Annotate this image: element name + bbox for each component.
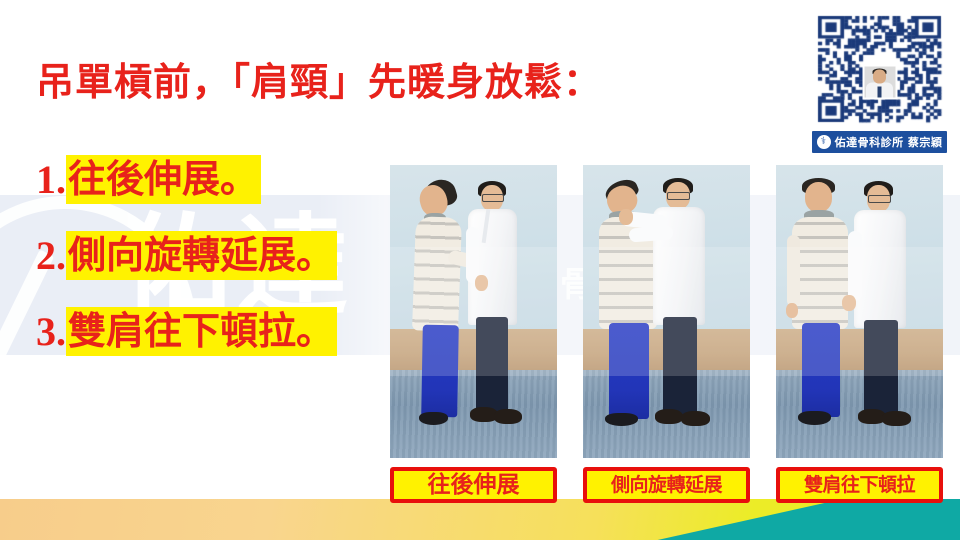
step-number: 2. <box>36 236 66 280</box>
clinic-logo-icon: ⚕ <box>817 135 831 149</box>
step-label: 側向旋轉延展。 <box>66 231 337 280</box>
steps-list: 1. 往後伸展。 2. 側向旋轉延展。 3. 雙肩往下頓拉。 <box>36 148 337 376</box>
list-item: 3. 雙肩往下頓拉。 <box>36 300 337 356</box>
photo-gallery <box>390 165 943 458</box>
qr-center-avatar <box>862 64 897 99</box>
qr-block[interactable]: ⚕ 佑達骨科診所 蔡宗穎 <box>812 10 947 153</box>
photo-caption-1: 往後伸展 <box>390 467 557 503</box>
demo-photo-2 <box>583 165 750 458</box>
demo-photo-3 <box>776 165 943 458</box>
clinic-wainscot <box>390 329 557 370</box>
step-number: 1. <box>36 160 66 204</box>
clinic-label-text: 佑達骨科診所 蔡宗穎 <box>835 134 943 150</box>
slide-canvas: 佑達 骨科診所 吊單槓前，「肩頸」先暖身放鬆： 1. 往後伸展。 2. 側向旋轉… <box>0 0 960 540</box>
step-label: 雙肩往下頓拉。 <box>66 307 337 356</box>
list-item: 1. 往後伸展。 <box>36 148 337 204</box>
step-label: 往後伸展。 <box>66 155 261 204</box>
bottom-decor-bar <box>0 499 960 540</box>
photo-caption-3: 雙肩往下頓拉 <box>776 467 943 503</box>
photo-caption-2: 側向旋轉延展 <box>583 467 750 503</box>
clinic-label: ⚕ 佑達骨科診所 蔡宗穎 <box>812 131 947 153</box>
step-number: 3. <box>36 312 66 356</box>
page-title: 吊單槓前，「肩頸」先暖身放鬆： <box>36 60 602 106</box>
caption-row: 往後伸展 側向旋轉延展 雙肩往下頓拉 <box>390 467 943 503</box>
list-item: 2. 側向旋轉延展。 <box>36 224 337 280</box>
demo-photo-1 <box>390 165 557 458</box>
